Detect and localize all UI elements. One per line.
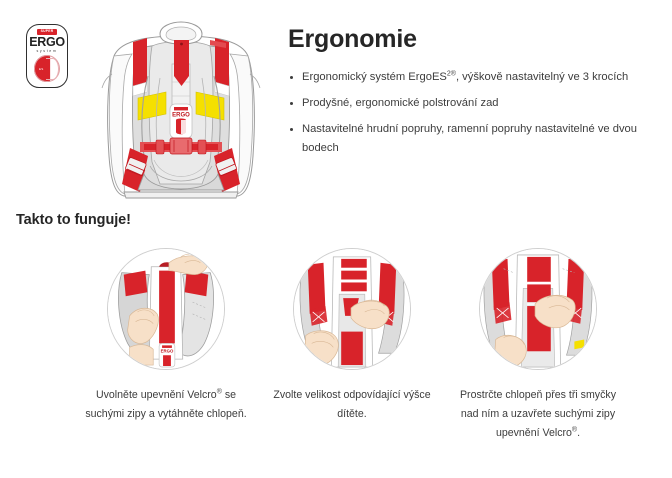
step-1-illustration: ERGO (107, 248, 225, 370)
feature-item-3: Nastavitelné hrudní popruhy, ramenní pop… (288, 120, 658, 158)
step-1-caption-text: Uvolněte upevnění Velcro (96, 389, 217, 401)
page-title: Ergonomie (288, 26, 658, 54)
feature-item-2: Prodyšné, ergonomické polstrování zad (288, 94, 658, 113)
step-3-svg (480, 249, 596, 369)
feature-sup-1: 2® (447, 70, 456, 77)
hero-section: SUPER ERGO system ES (0, 0, 672, 205)
ergo-system-badge: SUPER ERGO system ES (26, 24, 68, 88)
badge-figure-mini-label: ES (39, 67, 44, 71)
step-2-illustration (293, 248, 411, 370)
badge-word-ergo: ERGO (29, 36, 65, 49)
step-2-caption: Zvolte velikost odpovídající výšce dítět… (267, 386, 437, 424)
step-1-caption: Uvolněte upevnění Velcro® se suchými zip… (81, 386, 251, 424)
step-2-svg (294, 249, 410, 369)
step-3-caption: Prostrčte chlopeň přes tři smyčky nad ní… (453, 386, 623, 443)
step-3-illustration (479, 248, 597, 370)
feature-text-2: Prodyšné, ergonomické polstrování zad (302, 97, 499, 109)
step-1: ERGO Uvolněte upevnění Velcro® se suchým… (73, 248, 259, 443)
feature-text-3: Nastavitelné hrudní popruhy, ramenní pop… (302, 123, 637, 154)
badge-figure-icon: ES (34, 55, 60, 82)
feature-text-1-cont: , výškově nastavitelný ve 3 krocích (456, 71, 628, 83)
badge-word-system: system (37, 49, 58, 53)
feature-list: Ergonomický systém ErgoES2®, výškově nas… (288, 68, 658, 158)
svg-text:ERGO: ERGO (172, 113, 190, 119)
feature-text-1: Ergonomický systém ErgoES (302, 71, 447, 83)
badge-figure-arc (46, 58, 59, 80)
step-3-caption-text: Prostrčte chlopeň přes tři smyčky nad ní… (460, 389, 616, 439)
step-2: Zvolte velikost odpovídající výšce dítět… (259, 248, 445, 443)
step-3: Prostrčte chlopeň přes tři smyčky nad ní… (445, 248, 631, 443)
backpack-illustration: ERGO (100, 16, 262, 206)
svg-text:ERGO: ERGO (161, 348, 174, 353)
how-it-works-heading: Takto to funguje! (16, 212, 131, 228)
step-3-caption-text-cont: . (577, 427, 580, 439)
ergonomics-content: Ergonomie Ergonomický systém ErgoES2®, v… (288, 26, 658, 165)
backpack-svg: ERGO (100, 16, 262, 206)
how-it-works-steps: ERGO Uvolněte upevnění Velcro® se suchým… (0, 248, 672, 443)
feature-item-1: Ergonomický systém ErgoES2®, výškově nas… (288, 68, 658, 87)
step-1-svg: ERGO (108, 249, 224, 369)
step-2-caption-text: Zvolte velikost odpovídající výšce dítět… (273, 389, 430, 420)
